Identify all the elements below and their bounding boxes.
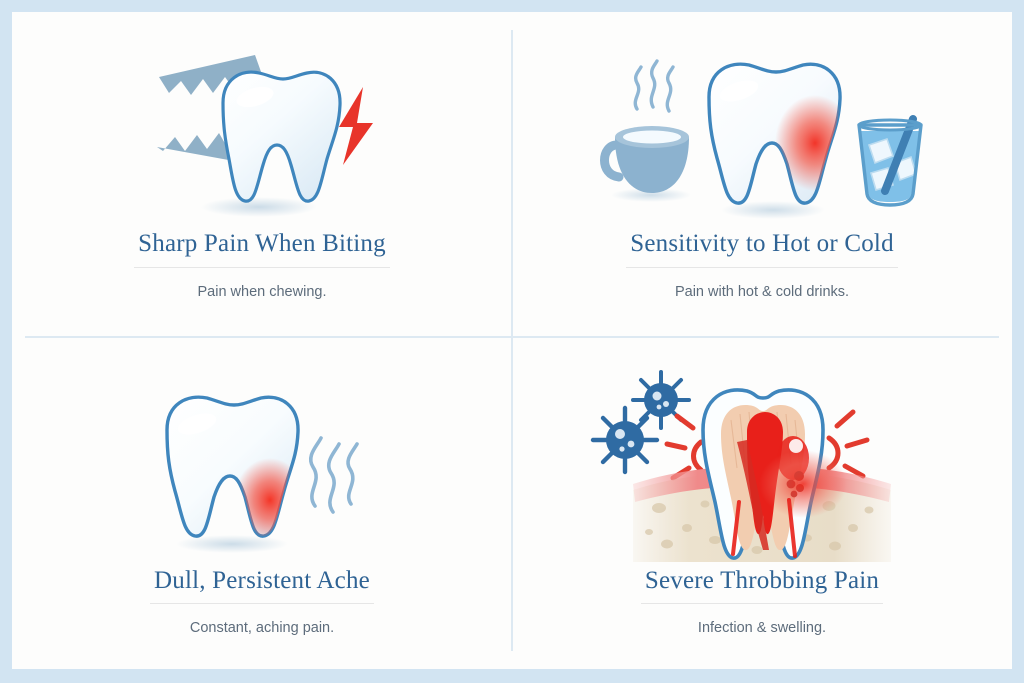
panel-2-title: Sensitivity to Hot or Cold	[626, 230, 898, 268]
panel-sharp-pain-when-biting: Sharp Pain When Biting Pain when chewing…	[12, 12, 512, 341]
iced-drink-glass-icon	[859, 119, 921, 205]
pain-glow-icon	[775, 95, 855, 191]
panel-grid: Sharp Pain When Biting Pain when chewing…	[12, 12, 1012, 669]
panel-3-caption: Dull, Persistent Ache Constant, aching p…	[12, 567, 512, 638]
lightning-bolt-icon	[339, 87, 373, 165]
infographic-card: Sharp Pain When Biting Pain when chewing…	[12, 12, 1012, 669]
infographic-root: Sharp Pain When Biting Pain when chewing…	[0, 0, 1024, 683]
coffee-cup-icon	[605, 61, 692, 202]
panel-1-illustration	[12, 30, 512, 230]
germ-2	[593, 408, 657, 472]
ache-waves-icon	[311, 438, 357, 512]
panel-1-title: Sharp Pain When Biting	[134, 230, 390, 268]
severe-throbbing-art	[597, 372, 927, 562]
panel-severe-throbbing-pain: Severe Throbbing Pain Infection & swelli…	[512, 341, 1012, 670]
panel-4-illustration	[512, 367, 1012, 567]
steam-icon	[635, 61, 673, 111]
panel-dull-persistent-ache: Dull, Persistent Ache Constant, aching p…	[12, 341, 512, 670]
panel-2-illustration	[512, 30, 1012, 230]
panel-2-subtitle: Pain with hot & cold drinks.	[512, 284, 1012, 301]
panel-4-caption: Severe Throbbing Pain Infection & swelli…	[512, 567, 1012, 638]
panel-3-subtitle: Constant, aching pain.	[12, 620, 512, 637]
dull-ache-art	[137, 372, 387, 562]
cup-liquid-surface	[623, 131, 681, 144]
tooth-shadow	[176, 535, 288, 553]
sensitivity-art	[597, 35, 927, 225]
panel-1-caption: Sharp Pain When Biting Pain when chewing…	[12, 230, 512, 301]
panel-4-subtitle: Infection & swelling.	[512, 620, 1012, 637]
panel-3-title: Dull, Persistent Ache	[150, 567, 374, 605]
panel-4-title: Severe Throbbing Pain	[641, 567, 883, 605]
panel-sensitivity-to-hot-or-cold: Sensitivity to Hot or Cold Pain with hot…	[512, 12, 1012, 341]
tooth-icon	[223, 72, 340, 201]
tooth-shadow	[201, 197, 317, 217]
sharp-pain-art	[137, 35, 387, 225]
panel-1-subtitle: Pain when chewing.	[12, 284, 512, 301]
panel-3-illustration	[12, 367, 512, 567]
panel-2-caption: Sensitivity to Hot or Cold Pain with hot…	[512, 230, 1012, 301]
throb-lines-left-icon	[667, 416, 701, 478]
swelling-glow	[759, 450, 847, 518]
bacteria-icon	[593, 372, 689, 472]
